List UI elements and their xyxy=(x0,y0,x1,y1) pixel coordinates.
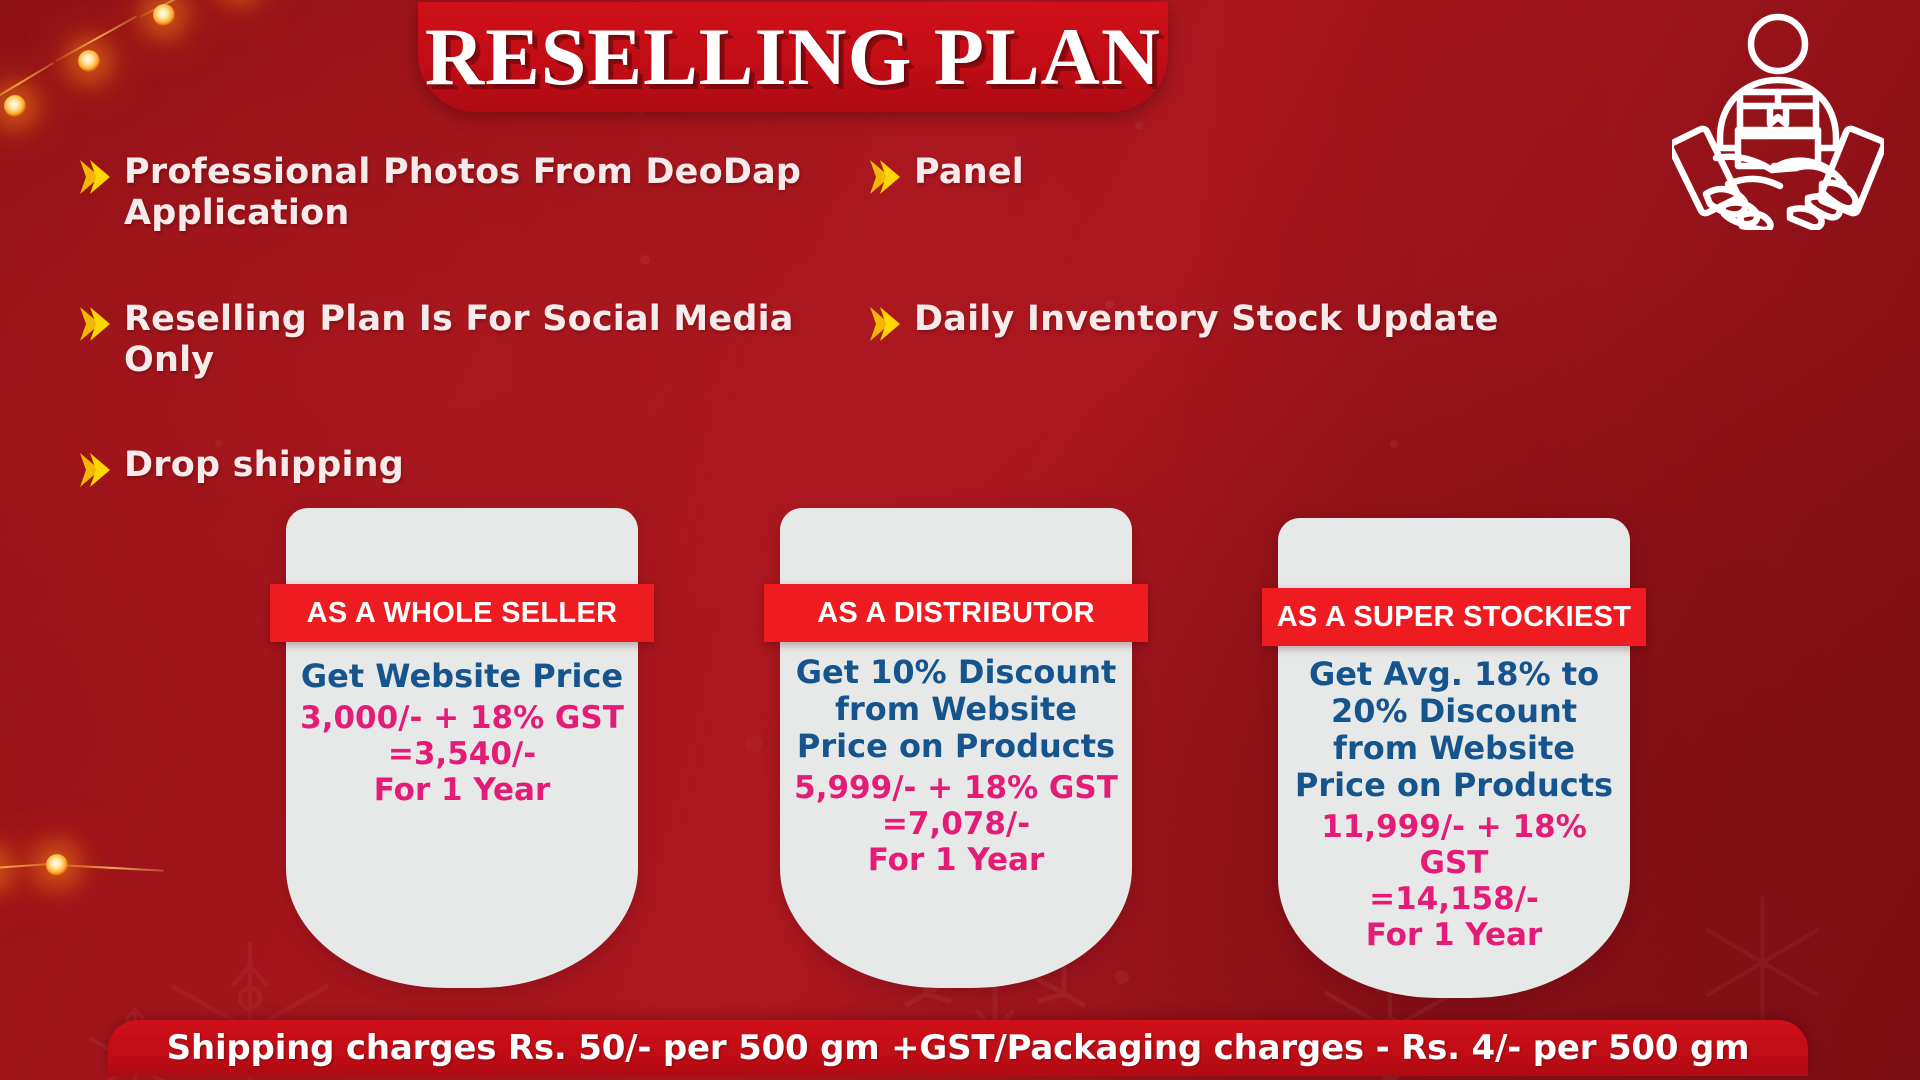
card-content: Get Website Price 3,000/- + 18% GST =3,5… xyxy=(286,658,638,809)
card-total-line: =3,540/- xyxy=(286,737,638,773)
feature-item: Reselling Plan Is For Social Media Only xyxy=(78,299,868,382)
features-row: Reselling Plan Is For Social Media Only … xyxy=(78,299,1678,408)
feature-label: Daily Inventory Stock Update xyxy=(914,299,1499,340)
card-heading: Get 10% Discount from Website Price on P… xyxy=(780,654,1132,765)
card-ribbon: AS A DISTRIBUTOR xyxy=(764,584,1148,642)
features-left-column: Reselling Plan Is For Social Media Only xyxy=(78,299,868,408)
card-duration-line: For 1 Year xyxy=(780,843,1132,879)
shipping-note-banner: Shipping charges Rs. 50/- per 500 gm +GS… xyxy=(108,1020,1808,1076)
card-total-line: =14,158/- xyxy=(1278,882,1630,918)
chevron-right-icon xyxy=(78,451,112,493)
card-ribbon-label: AS A DISTRIBUTOR xyxy=(817,597,1095,630)
features-list: Professional Photos From DeoDap Applicat… xyxy=(78,152,1678,519)
card-ribbon: AS A SUPER STOCKIEST xyxy=(1262,588,1646,646)
features-right-column: Panel xyxy=(868,152,1648,261)
card-heading: Get Avg. 18% to 20% Discount from Websit… xyxy=(1278,656,1630,804)
feature-item: Daily Inventory Stock Update xyxy=(868,299,1648,347)
feature-item: Professional Photos From DeoDap Applicat… xyxy=(78,152,868,235)
card-ribbon-label: AS A SUPER STOCKIEST xyxy=(1277,601,1632,634)
card-heading: Get Website Price xyxy=(286,658,638,695)
feature-item: Drop shipping xyxy=(78,445,868,493)
card-duration-line: For 1 Year xyxy=(286,773,638,809)
feature-label: Panel xyxy=(914,152,1024,193)
card-ribbon-label: AS A WHOLE SELLER xyxy=(307,597,618,630)
card-content: Get Avg. 18% to 20% Discount from Websit… xyxy=(1278,656,1630,954)
pricing-cards: AS A WHOLE SELLER Get Website Price 3,00… xyxy=(0,508,1920,988)
features-left-column: Professional Photos From DeoDap Applicat… xyxy=(78,152,868,261)
card-price-line: 11,999/- + 18% GST xyxy=(1278,810,1630,882)
features-right-column: Daily Inventory Stock Update xyxy=(868,299,1648,408)
card-content: Get 10% Discount from Website Price on P… xyxy=(780,654,1132,879)
shipping-note-text: Shipping charges Rs. 50/- per 500 gm +GS… xyxy=(167,1028,1750,1068)
features-row: Professional Photos From DeoDap Applicat… xyxy=(78,152,1678,261)
feature-item: Panel xyxy=(868,152,1648,200)
chevron-right-icon xyxy=(868,158,902,200)
card-price-line: 3,000/- + 18% GST xyxy=(286,701,638,737)
card-ribbon: AS A WHOLE SELLER xyxy=(270,584,654,642)
chevron-right-icon xyxy=(78,158,112,200)
card-duration-line: For 1 Year xyxy=(1278,918,1630,954)
card-price-line: 5,999/- + 18% GST xyxy=(780,771,1132,807)
feature-label: Drop shipping xyxy=(124,445,404,486)
card-total-line: =7,078/- xyxy=(780,807,1132,843)
background-dot xyxy=(1135,122,1143,130)
chevron-right-icon xyxy=(868,305,902,347)
title-banner: RESELLING PLAN xyxy=(418,2,1168,112)
handshake-partnership-icon xyxy=(1672,8,1884,230)
chevron-right-icon xyxy=(78,305,112,347)
feature-label: Reselling Plan Is For Social Media Only xyxy=(124,299,868,382)
page-title: RESELLING PLAN xyxy=(425,16,1161,98)
feature-label: Professional Photos From DeoDap Applicat… xyxy=(124,152,868,235)
